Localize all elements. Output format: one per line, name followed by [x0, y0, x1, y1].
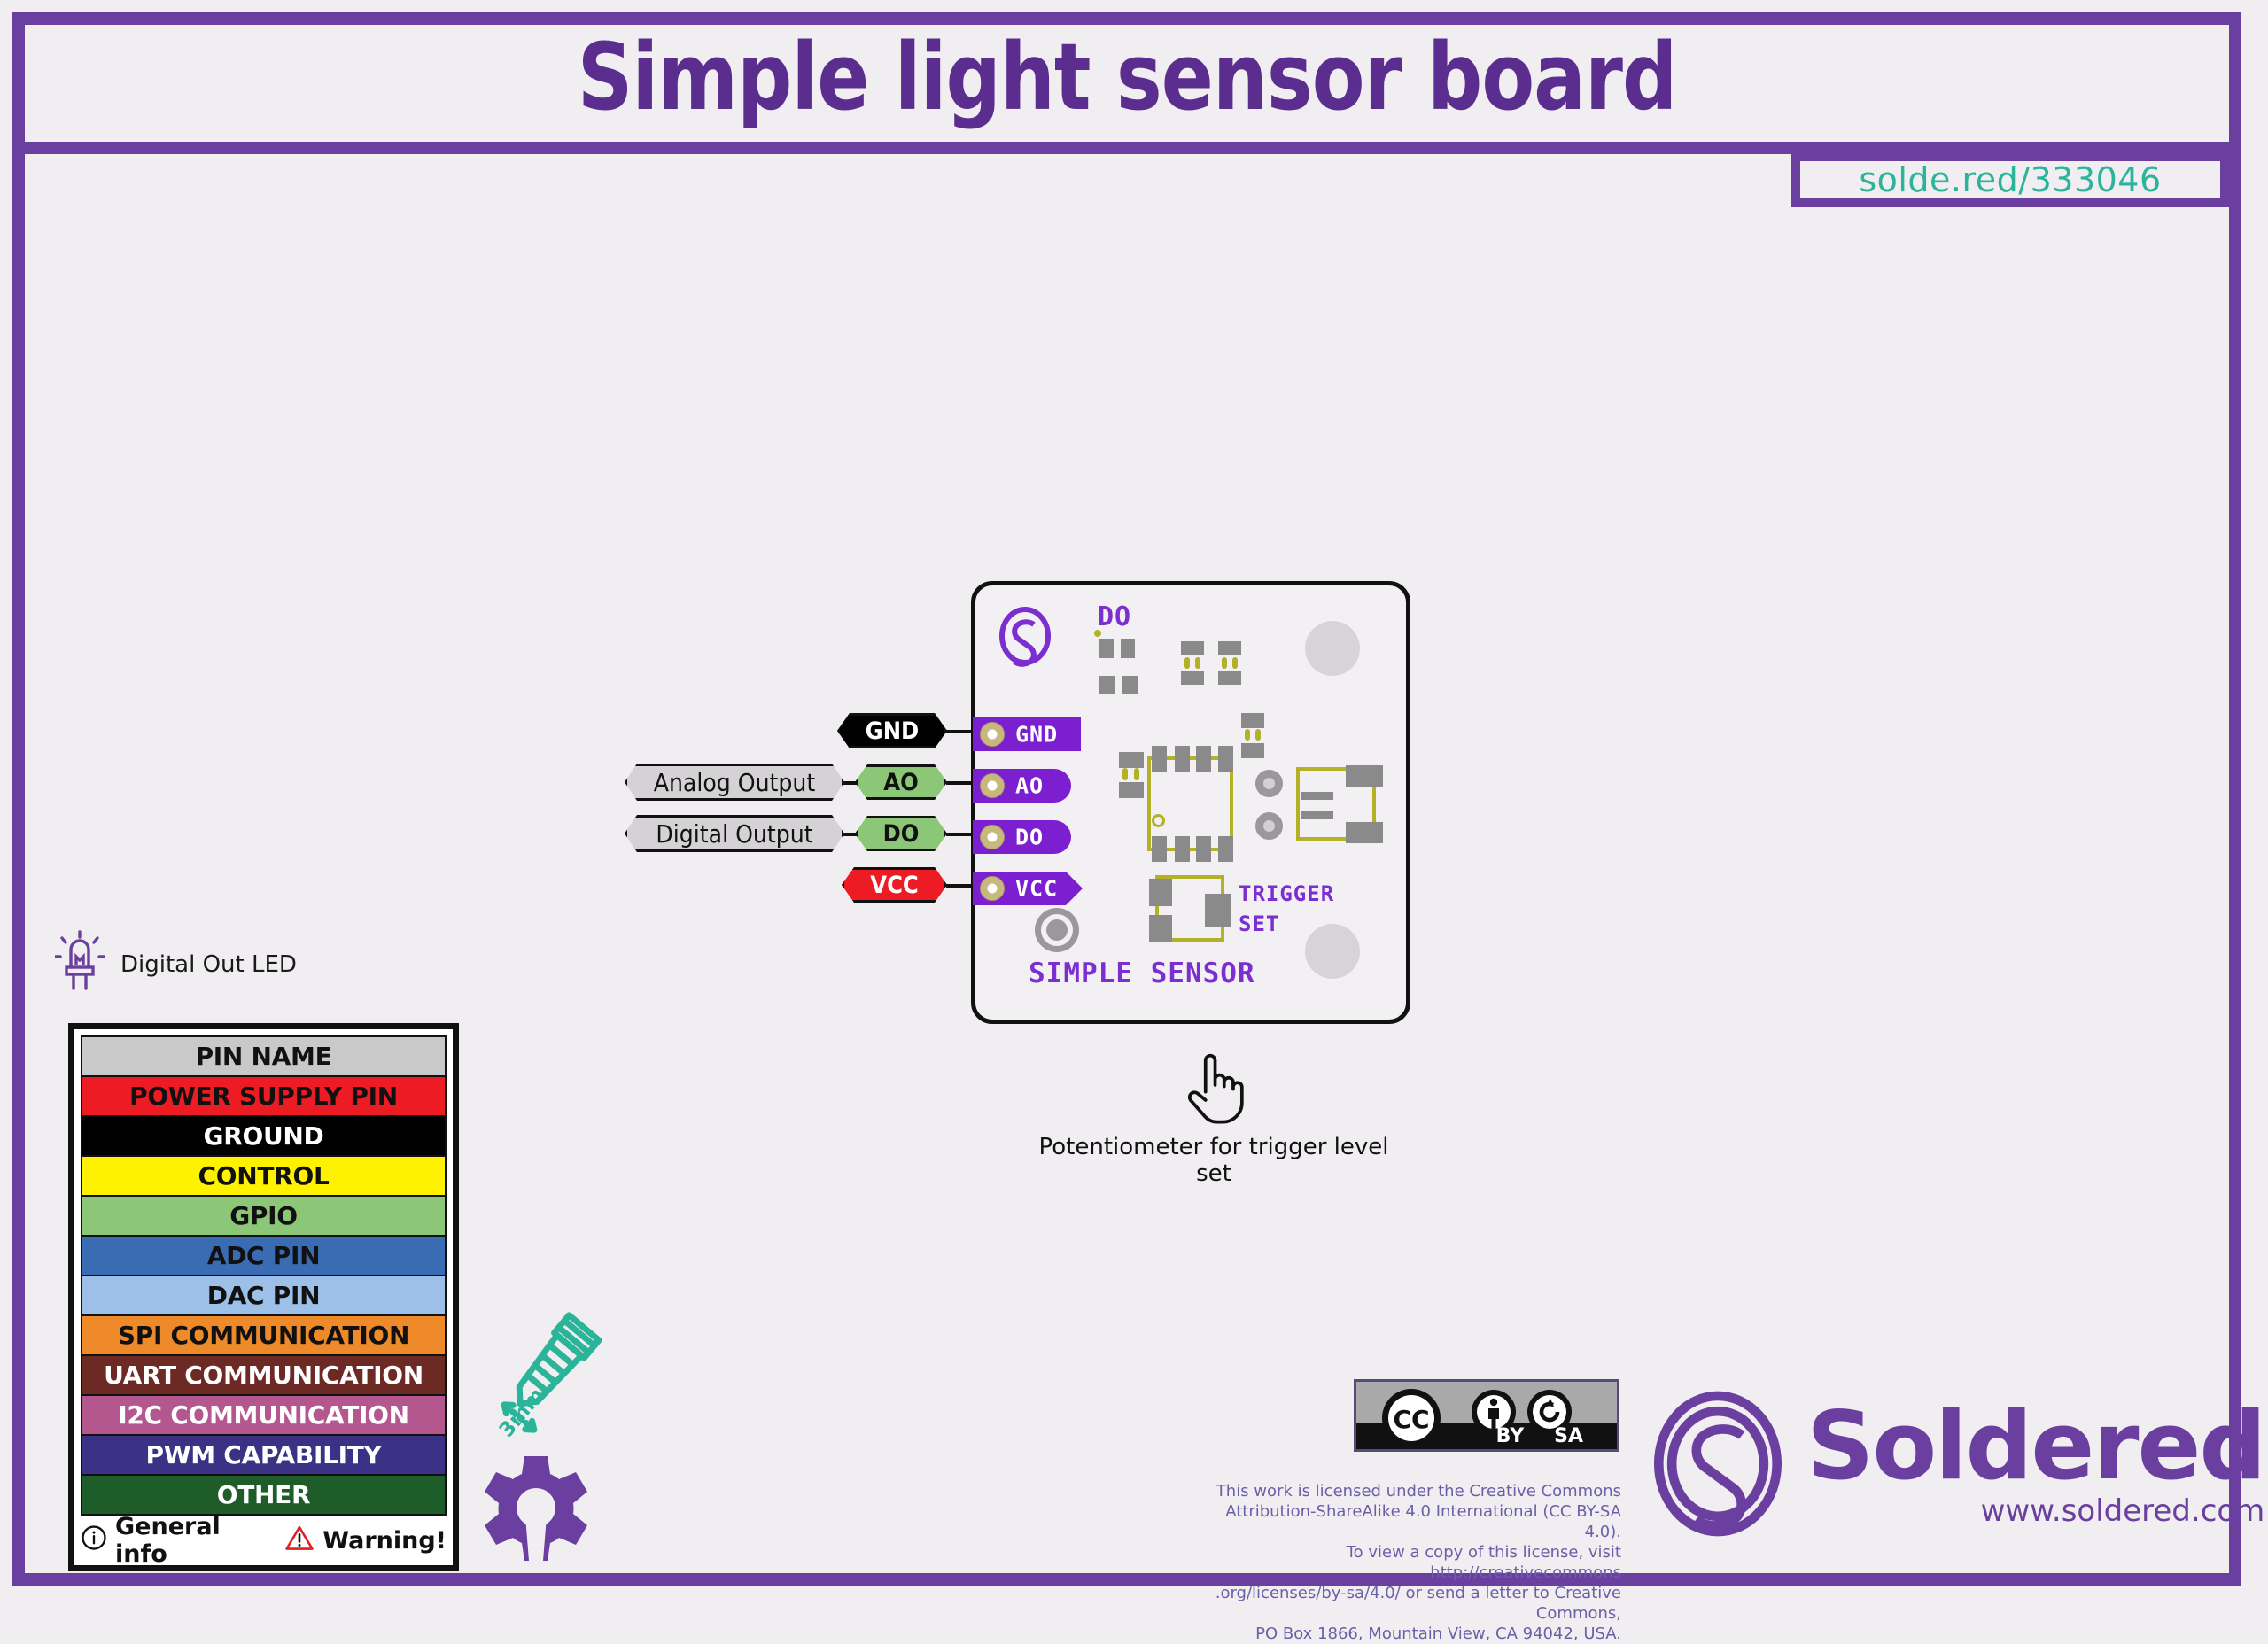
license-line-2: Attribution-ShareAlike 4.0 International…	[1196, 1501, 1621, 1542]
via-hole	[1255, 770, 1283, 797]
callout-pin-do: DO	[855, 816, 947, 851]
board-pin-do-label: DO	[1015, 825, 1044, 850]
potentiometer-caption: Potentiometer for trigger level set	[1037, 1134, 1391, 1187]
callout-pin-ao: AO	[855, 764, 947, 800]
legend-row: GPIO	[81, 1195, 447, 1235]
legend-row: POWER SUPPLY PIN	[81, 1075, 447, 1115]
digital-out-led-legend: Digital Out LED	[55, 930, 297, 999]
mounting-pad	[1305, 621, 1360, 676]
pin-legend-table: PIN NAMEPOWER SUPPLY PINGROUNDCONTROLGPI…	[68, 1023, 459, 1571]
url-badge[interactable]: solde.red/333046	[1791, 152, 2229, 207]
smd-pad	[1218, 641, 1241, 655]
board-pin-ao-label: AO	[1015, 773, 1044, 799]
page-title: Simple light sensor board	[578, 31, 1677, 123]
ic-pin-pad	[1152, 836, 1167, 862]
smd-via	[1134, 768, 1139, 780]
legend-row: PIN NAME	[81, 1035, 447, 1075]
smd-pad	[1119, 782, 1144, 798]
soldered-website: www.soldered.com	[1981, 1493, 2265, 1529]
license-line-1: This work is licensed under the Creative…	[1196, 1481, 1621, 1501]
board-pin-gnd-label: GND	[1015, 722, 1058, 748]
ic-pin-pad	[1152, 746, 1167, 772]
legend-row: ADC PIN	[81, 1235, 447, 1275]
info-circle-icon	[81, 1524, 107, 1557]
mounting-pad	[1305, 924, 1360, 979]
smd-pad	[1119, 752, 1144, 768]
board-pin-vcc-label: VCC	[1015, 876, 1058, 902]
ic-pin-pad	[1175, 746, 1190, 772]
screw-3mm-icon: 3mm	[485, 1309, 610, 1446]
ic-pin-pad	[1218, 836, 1233, 862]
legend-rows: PIN NAMEPOWER SUPPLY PINGROUNDCONTROLGPI…	[81, 1035, 447, 1516]
board-pin-vcc-hole	[980, 876, 1005, 901]
legend-footer: General info Warning!	[81, 1516, 447, 1565]
smd-via	[1222, 657, 1227, 669]
smd-via	[1245, 729, 1250, 741]
ldr-trace	[1301, 811, 1333, 819]
cc-badge-labels: BY SA	[1356, 1423, 1617, 1449]
smd-via	[1232, 657, 1238, 669]
smd-pad	[1241, 743, 1264, 758]
callout-pin-do-label: DO	[883, 820, 920, 848]
soldered-wordmark: Soldered www.soldered.com	[1806, 1402, 2264, 1529]
legend-row: I2C COMMUNICATION	[81, 1394, 447, 1434]
callout-pin-gnd: GND	[837, 713, 947, 748]
led-icon	[55, 930, 105, 999]
led-pad	[1122, 676, 1138, 694]
smd-via	[1122, 768, 1128, 780]
url-badge-text: solde.red/333046	[1859, 160, 2161, 199]
cc-badge-sa: SA	[1554, 1425, 1583, 1447]
smd-via	[1195, 657, 1200, 669]
board-pin-do[interactable]: DO	[973, 820, 1071, 854]
pointing-hand-icon	[1184, 1112, 1244, 1128]
callout-desc-digital-output: Digital Output	[625, 815, 844, 852]
legend-row: PWM CAPABILITY	[81, 1434, 447, 1474]
board-silk-trigger-line2: SET	[1239, 911, 1279, 936]
led-pad	[1099, 676, 1115, 694]
pcb-outline: DO	[971, 581, 1410, 1024]
warning-label: Warning!	[322, 1527, 447, 1555]
board-pin-gnd[interactable]: GND	[973, 717, 1081, 751]
callout-pin-vcc-label: VCC	[870, 872, 918, 899]
license-line-3: To view a copy of this license, visit ht…	[1196, 1542, 1621, 1583]
test-point-hole	[1035, 908, 1079, 952]
ic-pin-pad	[1218, 746, 1233, 772]
license-line-4: .org/licenses/by-sa/4.0/ or send a lette…	[1196, 1583, 1621, 1624]
ic-pin-pad	[1196, 746, 1211, 772]
ldr-pad	[1346, 822, 1383, 843]
general-info-label: General info	[115, 1513, 270, 1568]
legend-row: OTHER	[81, 1474, 447, 1516]
callout-desc-analog-output-label: Analog Output	[654, 768, 816, 797]
soldered-brand: Soldered www.soldered.com	[1643, 1386, 2264, 1545]
gear-icon	[478, 1453, 594, 1564]
led-pad	[1121, 639, 1135, 658]
callout-pin-vcc: VCC	[842, 867, 947, 903]
title-bar: Simple light sensor board	[12, 12, 2241, 154]
legend-row: DAC PIN	[81, 1275, 447, 1314]
smd-pad	[1241, 713, 1264, 728]
cc-badge-by: BY	[1496, 1425, 1525, 1447]
smd-pad	[1181, 671, 1204, 685]
potentiometer-pad	[1149, 915, 1172, 942]
ic-pin-pad	[1175, 836, 1190, 862]
smd-via	[1184, 657, 1190, 669]
ic-pin1-marker	[1152, 814, 1165, 827]
board-pin-do-hole	[980, 825, 1005, 849]
callout-desc-analog-output: Analog Output	[625, 764, 844, 801]
warning-triangle-icon	[284, 1524, 315, 1557]
legend-row: CONTROL	[81, 1155, 447, 1195]
license-text: This work is licensed under the Creative…	[1196, 1481, 1621, 1644]
soldered-name: Soldered	[1806, 1402, 2264, 1492]
led-legend-label: Digital Out LED	[120, 951, 297, 978]
callout-pin-gnd-label: GND	[866, 717, 919, 745]
board-soldered-logo-icon	[995, 605, 1055, 671]
ldr-pad	[1346, 765, 1383, 787]
callout-desc-digital-output-label: Digital Output	[656, 819, 812, 849]
warning-item: Warning!	[284, 1524, 447, 1557]
potentiometer-pad	[1205, 894, 1231, 927]
board-pin-ao[interactable]: AO	[973, 769, 1071, 803]
legend-row: SPI COMMUNICATION	[81, 1314, 447, 1354]
board-silk-trigger-line1: TRIGGER	[1239, 881, 1334, 906]
board-pin-ao-hole	[980, 773, 1005, 798]
cc-license-badge: CC BY SA	[1354, 1379, 1619, 1452]
board-silk-name: SIMPLE SENSOR	[1029, 958, 1255, 989]
via-hole	[1255, 812, 1283, 840]
test-point-inner	[1046, 919, 1068, 941]
legend-row: UART COMMUNICATION	[81, 1354, 447, 1394]
smd-pad	[1218, 671, 1241, 685]
ic-pin-pad	[1196, 836, 1211, 862]
soldered-logo-icon	[1643, 1386, 1792, 1545]
general-info-item: General info	[81, 1513, 270, 1568]
board-graphic: DO	[971, 581, 1410, 1024]
potentiometer-pad	[1149, 879, 1172, 906]
potentiometer-callout: Potentiometer for trigger level set	[1037, 1051, 1391, 1187]
board-pin-gnd-hole	[980, 722, 1005, 747]
ldr-trace	[1301, 792, 1333, 800]
license-line-5: PO Box 1866, Mountain View, CA 94042, US…	[1196, 1624, 1621, 1644]
led-pad	[1099, 639, 1114, 658]
board-silk-do: DO	[1098, 601, 1131, 632]
legend-row: GROUND	[81, 1115, 447, 1155]
smd-via	[1255, 729, 1261, 741]
smd-pad	[1181, 641, 1204, 655]
board-pin-vcc[interactable]: VCC	[973, 872, 1083, 905]
callout-pin-ao-label: AO	[883, 769, 918, 796]
led-anode-dot	[1094, 630, 1101, 637]
